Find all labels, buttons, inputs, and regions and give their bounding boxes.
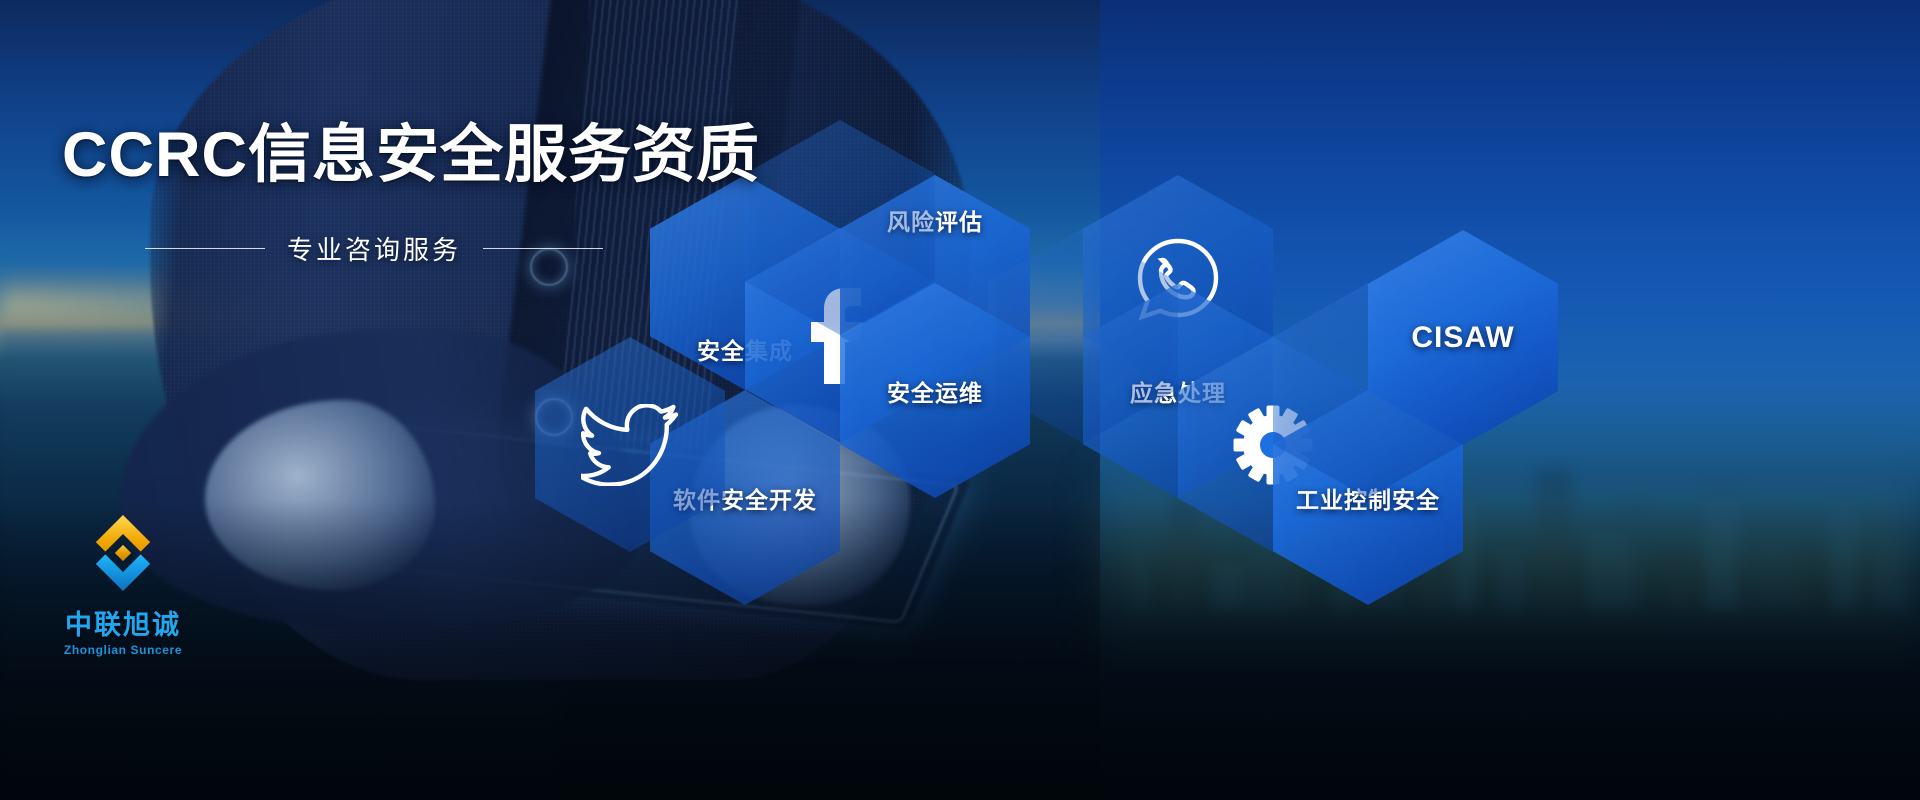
rule-right-decoration [483, 248, 603, 249]
page-subtitle: 专业咨询服务 [287, 230, 461, 267]
rule-left-decoration [145, 248, 265, 249]
twitter-icon [581, 404, 679, 486]
twitter-icon [581, 404, 679, 486]
company-logo[interactable]: 中联旭诚 Zhonglian Suncere [48, 505, 198, 657]
logo-name-en: Zhonglian Suncere [48, 643, 198, 657]
logo-name-cn: 中联旭诚 [48, 603, 198, 642]
hexagon-label: 安全运维 [887, 374, 983, 408]
logo-mark-icon [75, 505, 171, 601]
page-title: CCRC信息安全服务资质 [62, 104, 760, 195]
ccrc-banner: 安全集成 风险评估安全运维软件安全开发 应急处理 工业控制安全CISAW CCR… [0, 0, 1920, 800]
hexagon-label: CISAW [1411, 321, 1514, 355]
subtitle-row: 专业咨询服务 [145, 230, 603, 267]
